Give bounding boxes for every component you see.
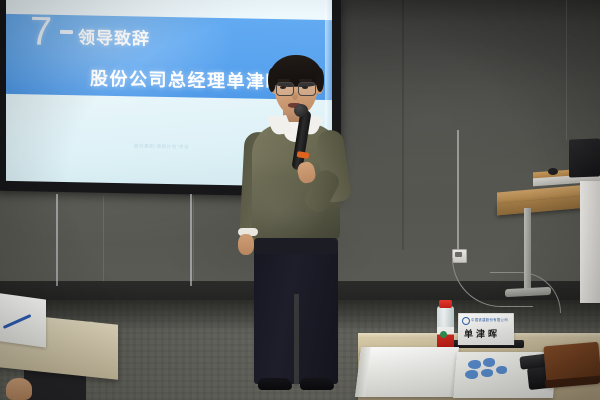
speaker-left-hand	[238, 234, 254, 255]
glasses-icon-bridge	[292, 86, 298, 87]
document-graphic-5	[496, 366, 507, 374]
side-desk-leg	[524, 208, 531, 296]
slide-footer-text: 股份集团“领航计划”项目	[134, 143, 189, 150]
wall-seam-left	[103, 196, 104, 286]
speaker-eye-left	[280, 86, 286, 89]
speaker-eye-right	[302, 86, 308, 89]
document-graphic-4	[481, 369, 493, 377]
document-graphic-2	[483, 358, 495, 367]
water-bottle-cap[interactable]	[439, 300, 452, 308]
speaker-figure	[228, 52, 358, 400]
open-book[interactable]	[355, 347, 459, 397]
speaker-hair-side-right	[316, 68, 324, 92]
slide-section-number: 7	[30, 11, 51, 51]
water-bottle-logo-icon	[440, 331, 447, 338]
screen-hanger-left	[56, 194, 58, 286]
glasses-icon-right-lens	[298, 82, 316, 96]
document-graphic-1	[468, 360, 481, 369]
computer-mouse[interactable]	[548, 168, 558, 175]
presentation-photo-scene: 7 领导致辞 股份公司总经理单津晖 股份集团“领航计划”项目	[0, 0, 600, 400]
speaker-hair-side-left	[268, 68, 276, 92]
speaker-waist	[254, 238, 338, 254]
power-cable-vertical	[457, 130, 459, 250]
wall-seam-mid	[193, 196, 194, 286]
circle-logo-icon	[462, 317, 470, 325]
white-podium	[580, 181, 600, 303]
glasses-icon-left-lens	[276, 82, 294, 96]
laptop[interactable]	[569, 138, 600, 177]
name-card-company: 中国铁建股份有限公司	[471, 317, 508, 322]
speaker-shoe-right	[300, 378, 334, 390]
wall-seam-right	[402, 0, 404, 250]
speaker-shoe-left	[258, 378, 292, 390]
attendee-hand	[6, 378, 32, 400]
slide-dash-icon	[60, 30, 73, 34]
trouser-leg-gap	[294, 294, 299, 386]
name-card-name: 单津晖	[464, 327, 500, 340]
screen-hanger-right	[190, 194, 192, 286]
outlet-socket-slot	[455, 252, 462, 257]
document-graphic-3	[465, 370, 478, 379]
paper-stack[interactable]	[0, 292, 46, 347]
slide-title: 领导致辞	[78, 23, 150, 49]
wall-seam-far-right	[566, 0, 567, 140]
microphone-icon-head[interactable]	[294, 104, 308, 117]
